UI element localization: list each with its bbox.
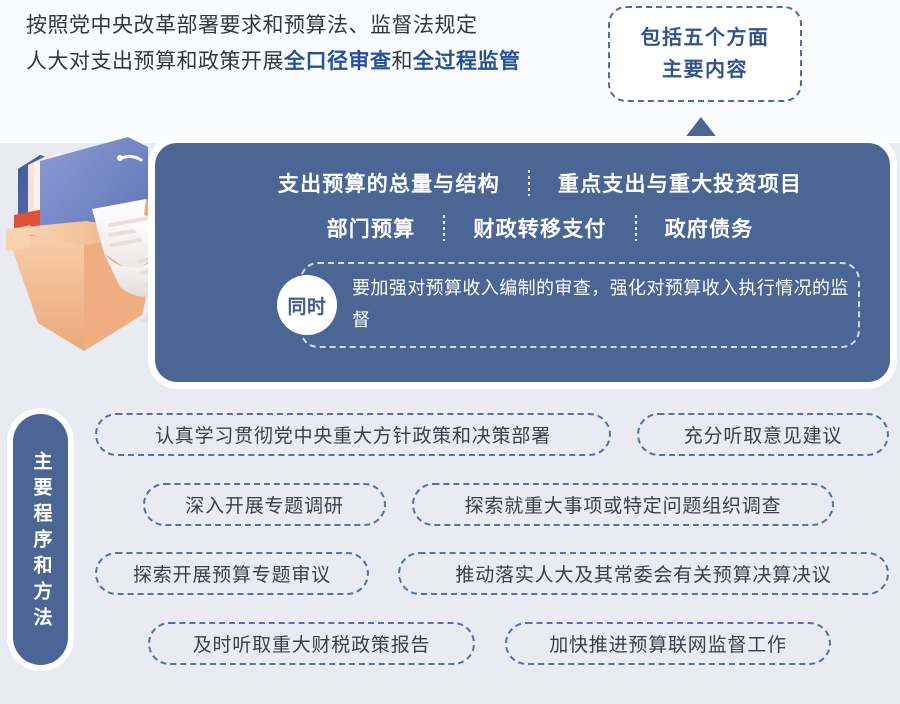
panel-item-government-debt: 政府债务 bbox=[659, 213, 760, 243]
procedure-pill-8-label: 加快推进预算联网监督工作 bbox=[549, 630, 787, 657]
procedure-pill-1[interactable]: 认真学习贯彻党中央重大方针政策和决策部署 bbox=[95, 413, 611, 456]
procedure-pill-7[interactable]: 及时听取重大财税政策报告 bbox=[148, 622, 475, 665]
summary-badge-line-2: 主要内容 bbox=[662, 56, 748, 84]
procedure-pill-5-label: 探索开展预算专题审议 bbox=[133, 560, 331, 587]
procedure-pill-2[interactable]: 充分听取意见建议 bbox=[637, 413, 889, 456]
heading-highlight-2: 全过程监管 bbox=[413, 50, 521, 73]
procedure-pill-6[interactable]: 推动落实人大及其常委会有关预算决算决议 bbox=[398, 552, 889, 595]
heading-line2-conjunction: 和 bbox=[392, 50, 414, 73]
summary-badge: 包括五个方面 主要内容 bbox=[608, 6, 802, 102]
heading-highlight-1: 全口径审查 bbox=[284, 50, 392, 73]
dotted-separator-icon bbox=[443, 215, 445, 241]
dotted-separator-icon bbox=[528, 170, 530, 196]
procedure-pill-3[interactable]: 深入开展专题调研 bbox=[143, 483, 386, 526]
summary-badge-line-1: 包括五个方面 bbox=[641, 24, 770, 52]
panel-row-1: 支出预算的总量与结构 重点支出与重大投资项目 bbox=[195, 160, 885, 205]
procedure-pill-5[interactable]: 探索开展预算专题审议 bbox=[95, 552, 369, 595]
badge-pointer-arrow-icon bbox=[680, 117, 722, 144]
panel-item-key-expenditure: 重点支出与重大投资项目 bbox=[552, 168, 808, 198]
bottom-section-label-text: 主要程序和方法 bbox=[26, 447, 56, 633]
procedure-pill-7-label: 及时听取重大财税政策报告 bbox=[193, 630, 431, 657]
panel-item-department-budget: 部门预算 bbox=[321, 213, 422, 243]
heading-line2-prefix: 人大对支出预算和政策开展 bbox=[26, 50, 284, 73]
panel-note-text: 要加强对预算收入编制的审查，强化对预算收入执行情况的监督 bbox=[352, 272, 852, 336]
procedure-pill-2-label: 充分听取意见建议 bbox=[684, 421, 842, 448]
panel-row-2: 部门预算 财政转移支付 政府债务 bbox=[195, 205, 885, 250]
procedure-pill-4-label: 探索就重大事项或特定问题组织调查 bbox=[465, 491, 782, 518]
procedure-pill-3-label: 深入开展专题调研 bbox=[185, 491, 343, 518]
page-title: 按照党中央改革部署要求和预算法、监督法规定 人大对支出预算和政策开展全口径审查和… bbox=[26, 8, 586, 80]
dotted-separator-icon bbox=[635, 215, 637, 241]
panel-note-chip: 同时 bbox=[277, 275, 337, 335]
procedure-pill-8[interactable]: 加快推进预算联网监督工作 bbox=[505, 622, 831, 665]
procedure-pill-6-label: 推动落实人大及其常委会有关预算决算决议 bbox=[455, 560, 831, 587]
procedure-pill-4[interactable]: 探索就重大事项或特定问题组织调查 bbox=[412, 483, 834, 526]
panel-item-rows: 支出预算的总量与结构 重点支出与重大投资项目 部门预算 财政转移支付 政府债务 bbox=[195, 160, 885, 250]
bottom-section-label: 主要程序和方法 bbox=[13, 414, 68, 665]
heading-line-2: 人大对支出预算和政策开展全口径审查和全过程监管 bbox=[26, 44, 586, 80]
panel-item-total-structure: 支出预算的总量与结构 bbox=[272, 168, 506, 198]
procedure-pill-1-label: 认真学习贯彻党中央重大方针政策和决策部署 bbox=[155, 421, 551, 448]
panel-item-fiscal-transfer: 财政转移支付 bbox=[467, 213, 612, 243]
heading-line-1: 按照党中央改革部署要求和预算法、监督法规定 bbox=[26, 8, 586, 44]
